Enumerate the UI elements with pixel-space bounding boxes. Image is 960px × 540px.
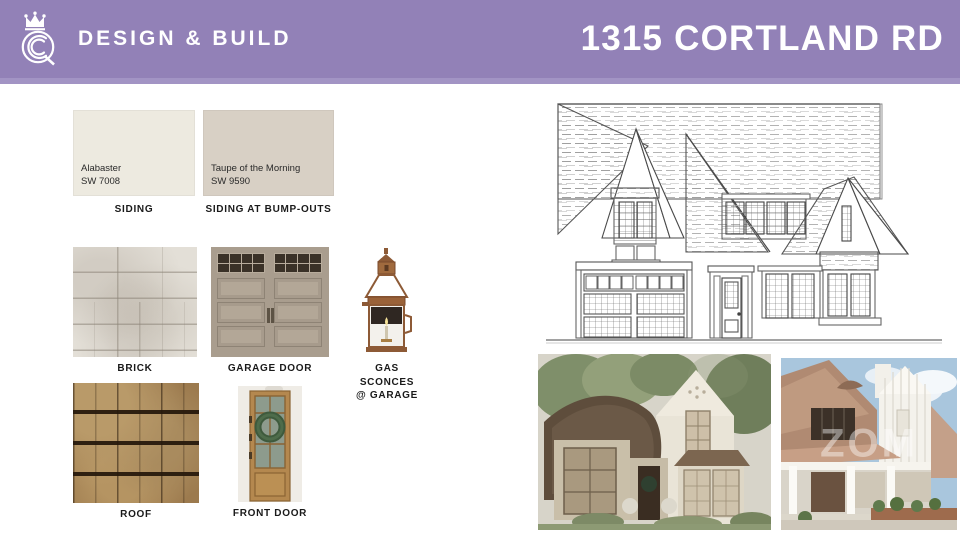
logo-wordmark: DESIGN & BUILD xyxy=(78,27,292,51)
project-address-title: 1315 CORTLAND RD xyxy=(581,19,944,59)
swatch-siding-bumpouts: Taupe of the Morning SW 9590 SIDING AT B… xyxy=(203,110,334,196)
slide-header: DESIGN & BUILD 1315 CORTLAND RD xyxy=(0,0,960,78)
swatch-color-chip: Alabaster SW 7008 xyxy=(73,110,195,196)
swatch-color-code: SW 7008 xyxy=(81,176,121,189)
carriage-garage-door-image xyxy=(211,247,329,357)
house-rendering-photo xyxy=(538,354,771,530)
swatch-caption: SIDING xyxy=(73,203,195,217)
house-inspiration-photo: ZOM xyxy=(781,358,957,530)
material-garage-door: GARAGE DOOR xyxy=(211,247,329,357)
material-caption-line2: @ GARAGE xyxy=(356,390,418,401)
swatch-color-name: Taupe of the Morning xyxy=(211,163,300,176)
material-caption: GAS SCONCES @ GARAGE xyxy=(352,362,422,403)
material-caption-line1: GAS SCONCES xyxy=(360,363,414,388)
exhibits-panel: ZOM xyxy=(500,84,960,540)
selections-panel: Alabaster SW 7008 SIDING Taupe of the Mo… xyxy=(0,84,500,540)
asphalt-shingle-texture-swatch xyxy=(73,383,199,503)
swatch-color-chip: Taupe of the Morning SW 9590 xyxy=(203,110,334,196)
swatch-siding: Alabaster SW 7008 SIDING xyxy=(73,110,195,196)
material-caption: GARAGE DOOR xyxy=(211,362,329,376)
presentation-slide: DESIGN & BUILD 1315 CORTLAND RD Alabaste… xyxy=(0,0,960,540)
material-caption: BRICK xyxy=(73,362,197,376)
swatch-color-name: Alabaster xyxy=(81,163,121,176)
material-gas-sconce: GAS SCONCES @ GARAGE xyxy=(352,247,422,357)
swatch-name-block: Alabaster SW 7008 xyxy=(81,163,121,189)
material-front-door: FRONT DOOR xyxy=(238,386,302,502)
company-logo: DESIGN & BUILD xyxy=(14,10,292,68)
material-brick: BRICK xyxy=(73,247,197,357)
swatch-caption: SIDING AT BUMP-OUTS xyxy=(203,203,334,217)
front-elevation-line-drawing xyxy=(536,94,952,349)
swatch-color-code: SW 9590 xyxy=(211,176,300,189)
material-caption: FRONT DOOR xyxy=(205,507,335,521)
wood-front-door-image xyxy=(238,386,302,502)
material-roof: ROOF xyxy=(73,383,199,503)
crown-cq-monogram-logo xyxy=(14,10,70,68)
material-caption: ROOF xyxy=(73,508,199,522)
brick-texture-swatch xyxy=(73,247,197,357)
swatch-name-block: Taupe of the Morning SW 9590 xyxy=(211,163,300,189)
copper-gas-lantern-image xyxy=(352,247,422,357)
